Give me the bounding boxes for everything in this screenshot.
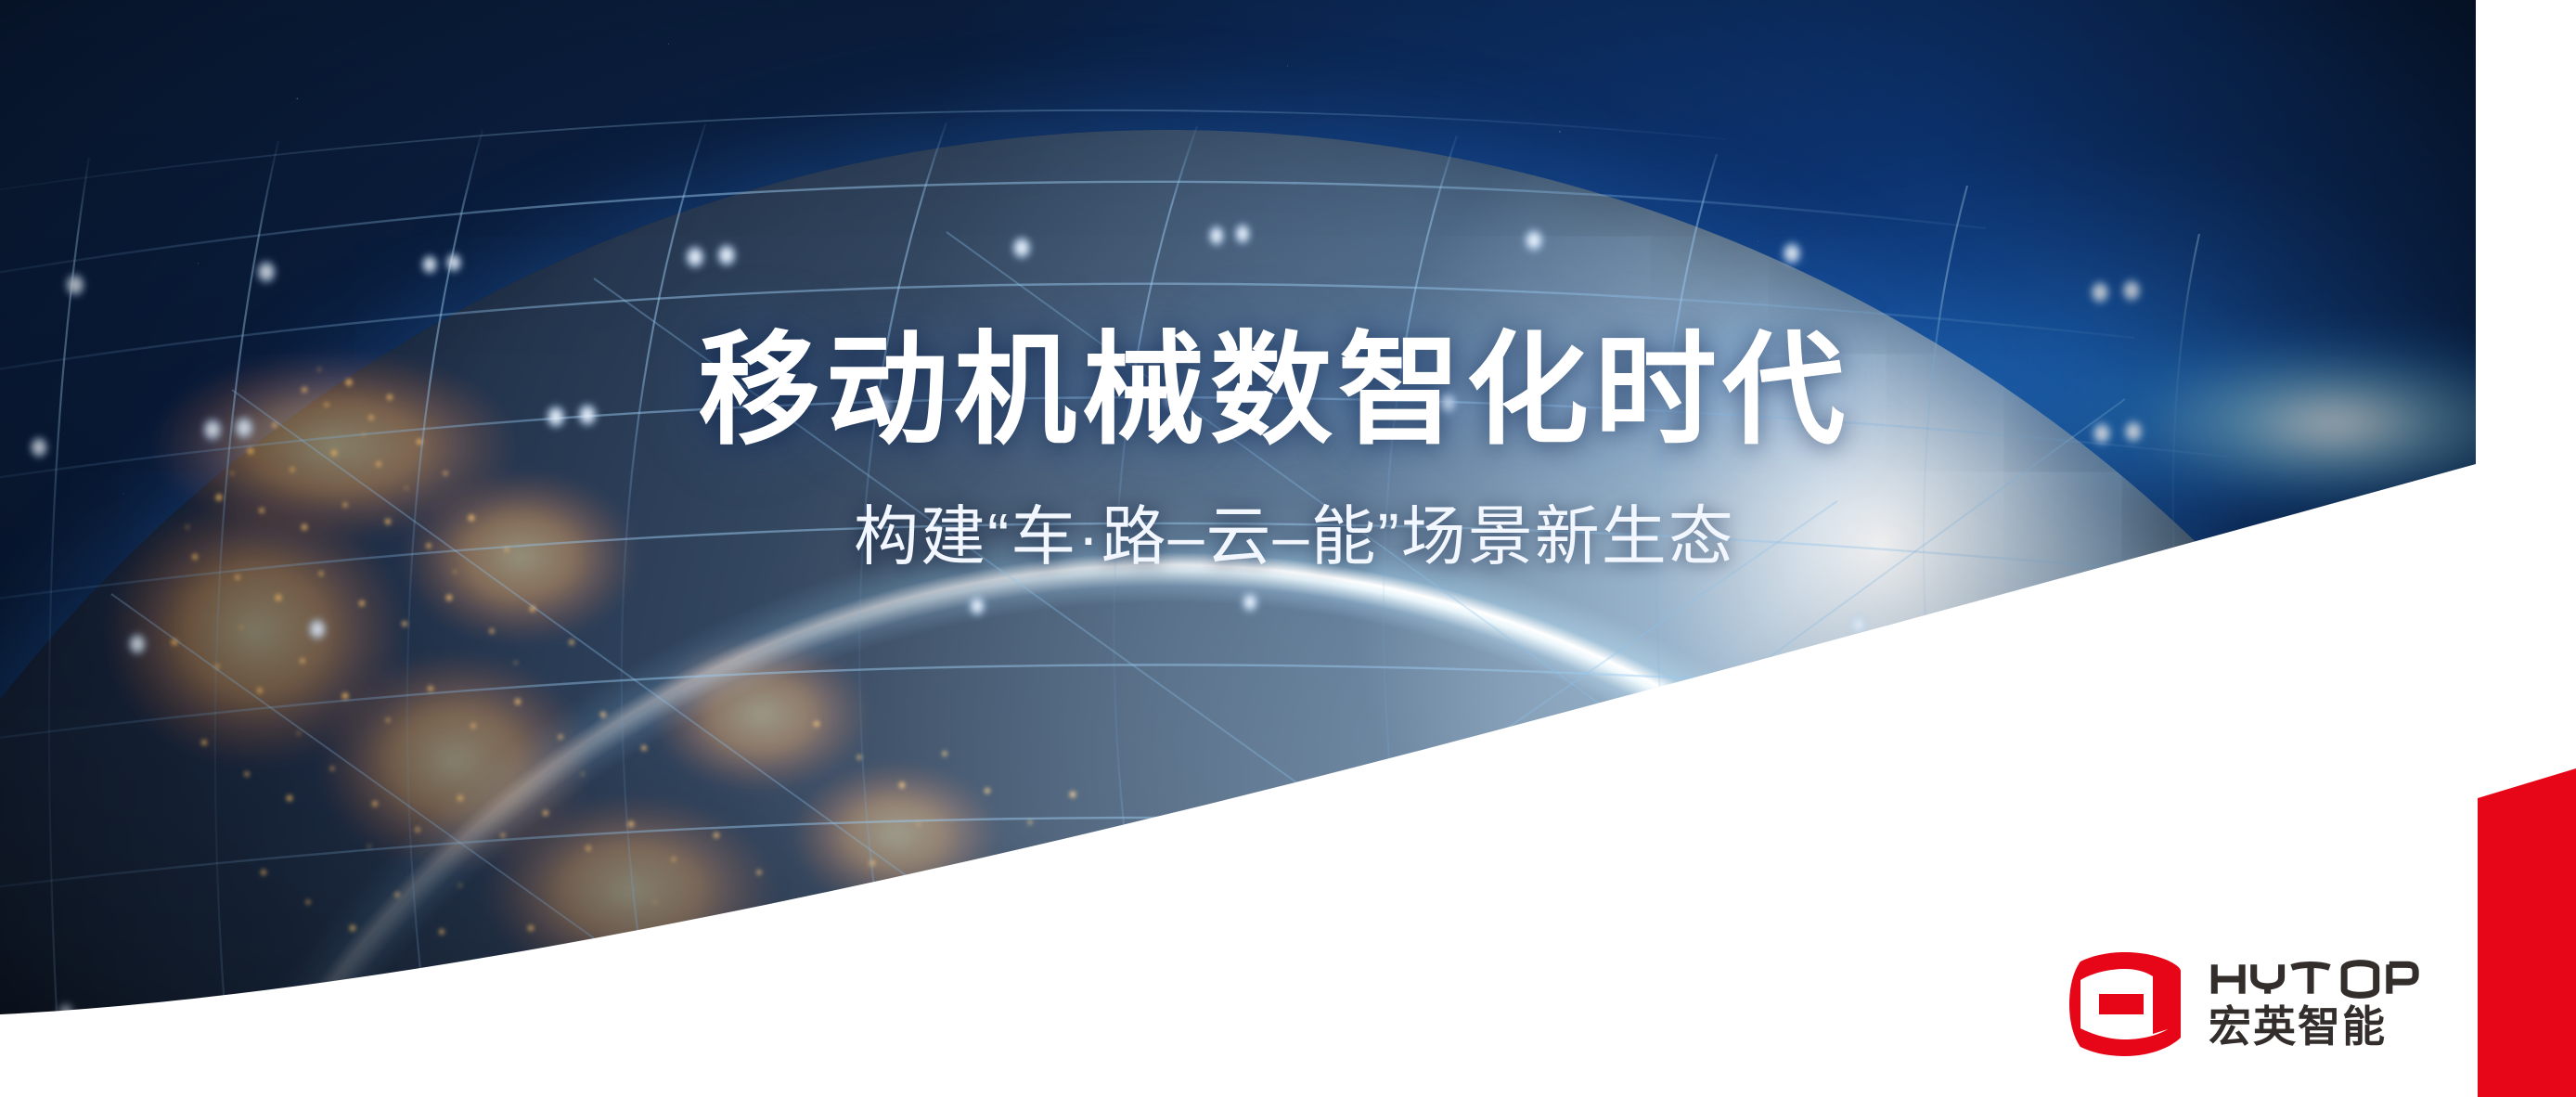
slide-canvas: 移动机械数智化时代 构建“车·路–云–能”场景新生态 [0,0,2576,1097]
red-accent-block [2455,742,2576,1097]
logo-text-lockup: HYTOP 宏英智能 [2209,959,2420,1050]
hytop-wordmark: HYTOP [2209,959,2420,1000]
brand-name-cn: 宏英智能 [2209,1003,2420,1050]
brand-logo: HYTOP 宏英智能 [2066,939,2455,1069]
hero-background-image: 移动机械数智化时代 构建“车·路–云–能”场景新生态 [0,0,2476,1097]
earth-globe [0,0,2476,1097]
hytop-g-mark-icon [2066,949,2184,1060]
